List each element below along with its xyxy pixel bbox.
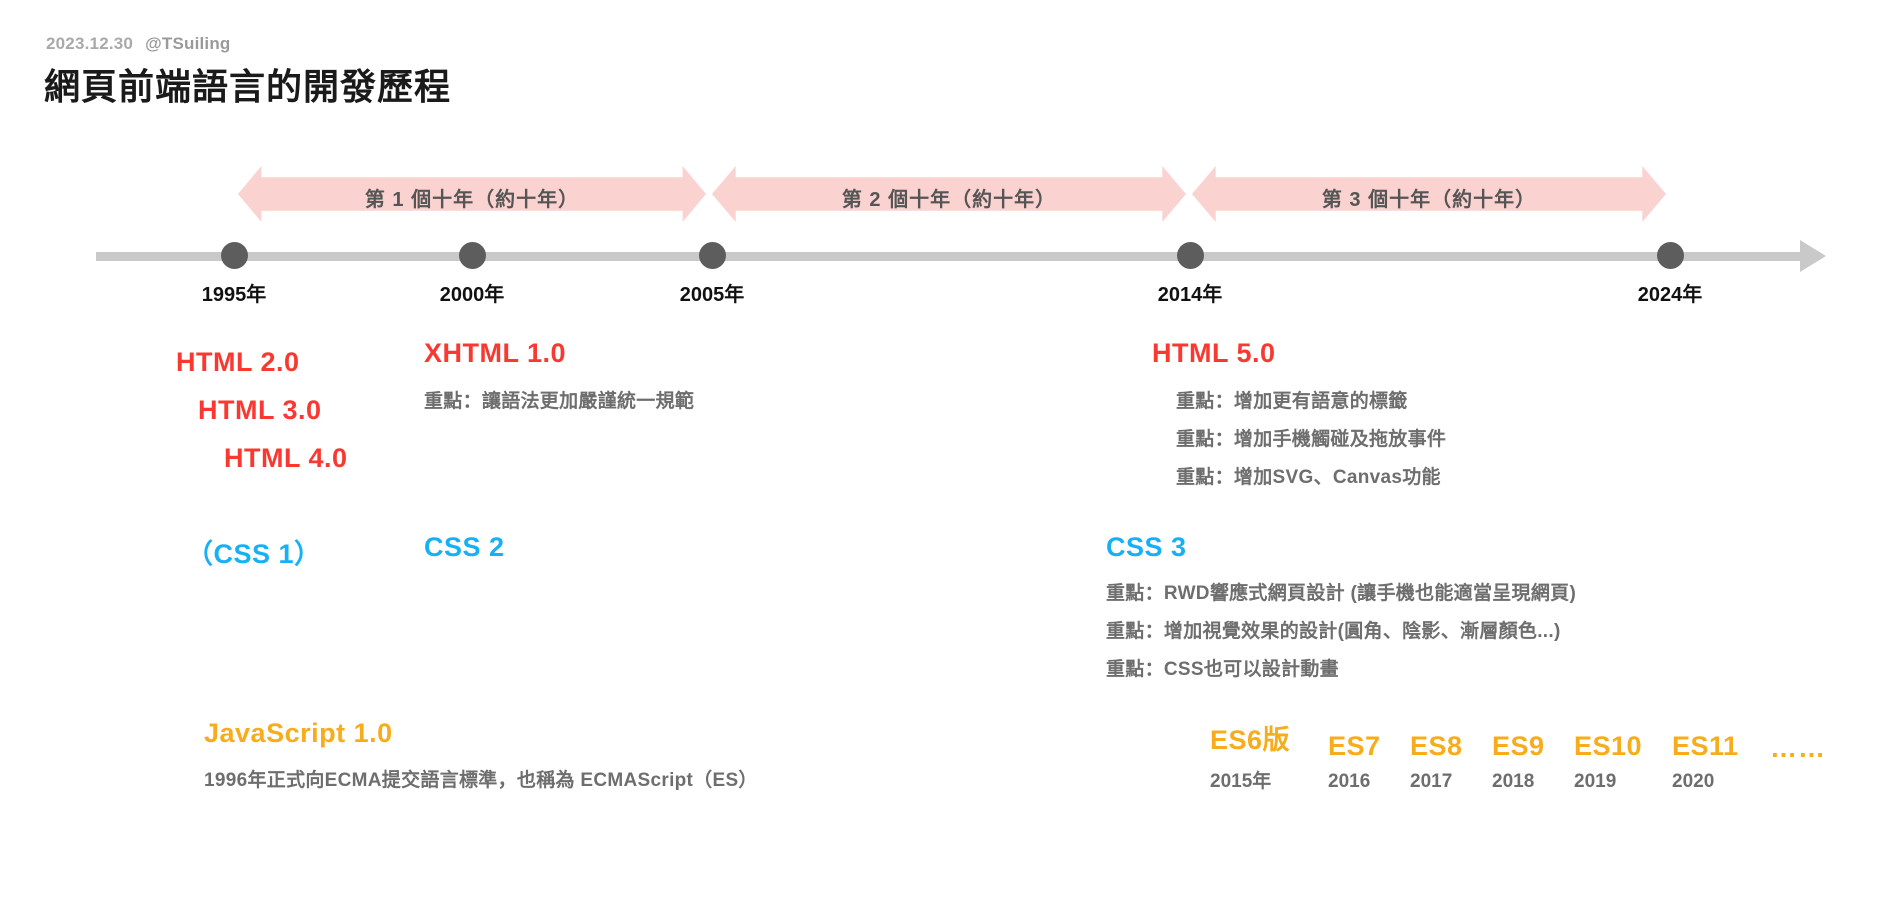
html5-title: HTML 5.0 [1152, 338, 1446, 369]
timeline-dot [1177, 242, 1204, 269]
html5-note: 重點：增加更有語意的標籤 [1176, 383, 1446, 421]
timeline-year-label: 2005年 [680, 278, 745, 307]
page-title: 網頁前端語言的開發歷程 [44, 58, 451, 110]
css3-title: CSS 3 [1106, 532, 1576, 563]
css3-note: 重點：增加視覺效果的設計(圓角、陰影、漸層顏色...) [1106, 613, 1576, 651]
timeline-axis [96, 252, 1806, 261]
es-version-name: ES7 [1328, 731, 1410, 762]
es-version-year: 2019 [1574, 771, 1672, 793]
es-version-year: 2015年 [1210, 766, 1328, 793]
es-version-year: 2016 [1328, 771, 1410, 793]
es-version-group: ES6版2015年ES72016ES82017ES92018ES102019ES… [1210, 718, 1826, 793]
es-version-cell: ES112020 [1672, 731, 1770, 793]
decade-arrow-label: 第 2 個十年（約十年） [842, 183, 1056, 212]
css1-title: （CSS 1） [186, 532, 322, 571]
javascript-title: JavaScript 1.0 [204, 718, 758, 749]
xhtml-title: XHTML 1.0 [424, 338, 694, 369]
javascript-group: JavaScript 1.0 1996年正式向ECMA提交語言標準，也稱為 EC… [204, 718, 758, 800]
es-version-cell: ES92018 [1492, 731, 1574, 793]
es-version-cell: ES72016 [1328, 731, 1410, 793]
es-version-name: ES8 [1410, 731, 1492, 762]
decade-arrow-label: 第 1 個十年（約十年） [365, 183, 579, 212]
html5-group: HTML 5.0 重點：增加更有語意的標籤 重點：增加手機觸碰及拖放事件 重點：… [1152, 338, 1446, 497]
xhtml-note: 重點：讓語法更加嚴謹統一規範 [424, 383, 694, 421]
es-version-name: ES11 [1672, 731, 1770, 762]
decade-arrow-1: 第 1 個十年（約十年） [238, 166, 706, 222]
es-version-cell: ES102019 [1574, 731, 1672, 793]
javascript-note: 1996年正式向ECMA提交語言標準，也稱為 ECMAScript（ES） [204, 762, 758, 800]
timeline-year-label: 2024年 [1638, 278, 1703, 307]
css3-note: 重點：CSS也可以設計動畫 [1106, 651, 1576, 689]
es-version-cell: ES6版2015年 [1210, 718, 1328, 793]
timeline-year-label: 2014年 [1158, 278, 1223, 307]
decade-arrow-label: 第 3 個十年（約十年） [1322, 183, 1536, 212]
es-version-name: ES9 [1492, 731, 1574, 762]
css2-title: CSS 2 [424, 532, 505, 563]
html-version-label: HTML 3.0 [176, 386, 348, 434]
es-version-name: ES10 [1574, 731, 1672, 762]
es-version-cell: ES82017 [1410, 731, 1492, 793]
es-version-year: 2018 [1492, 771, 1574, 793]
html5-note: 重點：增加SVG、Canvas功能 [1176, 459, 1446, 497]
css3-group: CSS 3 重點：RWD響應式網頁設計 (讓手機也能適當呈現網頁) 重點：增加視… [1106, 532, 1576, 689]
es-version-name: ES6版 [1210, 718, 1328, 757]
decade-arrow-3: 第 3 個十年（約十年） [1192, 166, 1666, 222]
timeline-year-label: 2000年 [440, 278, 505, 307]
css3-note: 重點：RWD響應式網頁設計 (讓手機也能適當呈現網頁) [1106, 575, 1576, 613]
html5-note: 重點：增加手機觸碰及拖放事件 [1176, 421, 1446, 459]
es-version-year: 2017 [1410, 771, 1492, 793]
author-handle: @TSuiling [145, 34, 230, 53]
html-early-versions: HTML 2.0 HTML 3.0 HTML 4.0 [176, 338, 348, 482]
timeline-dot [1657, 242, 1684, 269]
html-version-label: HTML 2.0 [176, 338, 348, 386]
decade-arrow-2: 第 2 個十年（約十年） [712, 166, 1186, 222]
timeline-dot [699, 242, 726, 269]
html-version-label: HTML 4.0 [176, 434, 348, 482]
timeline-dot [221, 242, 248, 269]
meta-line: 2023.12.30@TSuiling [46, 34, 231, 54]
es-version-year: 2020 [1672, 771, 1770, 793]
timeline-infographic: 2023.12.30@TSuiling 網頁前端語言的開發歷程 第 1 個十年（… [0, 0, 1900, 900]
timeline-arrow-icon [1800, 240, 1826, 272]
timeline-dot [459, 242, 486, 269]
publish-date: 2023.12.30 [46, 34, 133, 53]
timeline-year-label: 1995年 [202, 278, 267, 307]
es-version-ellipsis: …… [1770, 733, 1826, 793]
es-version-row: ES6版2015年ES72016ES82017ES92018ES102019ES… [1210, 718, 1826, 793]
xhtml-group: XHTML 1.0 重點：讓語法更加嚴謹統一規範 [424, 338, 694, 421]
